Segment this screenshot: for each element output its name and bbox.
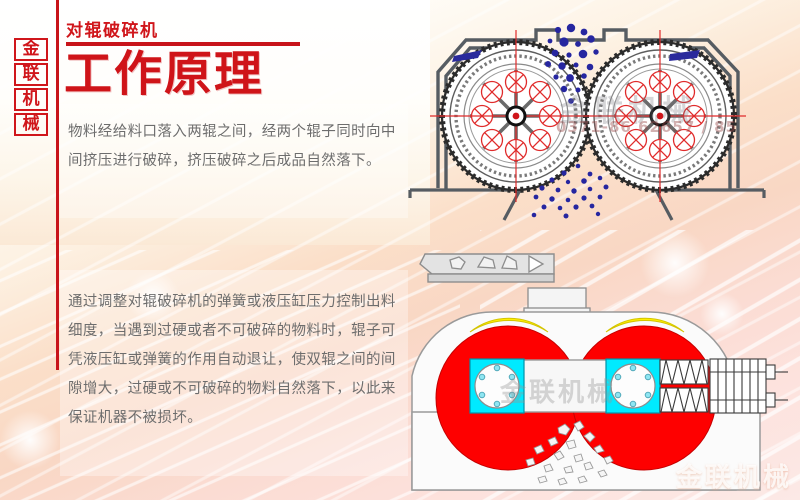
bearing-left bbox=[470, 359, 524, 413]
paragraph-1: 物料经给料口落入两辊之间，经两个辊子同时向中间挤压进行破碎，挤压破碎之后成品自然… bbox=[68, 118, 398, 176]
figure-crusher-cross-section bbox=[408, 8, 796, 234]
vertical-red-divider bbox=[56, 0, 59, 370]
poster-canvas: 金 联 机 械 对辊破碎机 工作原理 物料经给料口落入两辊之间，经两个辊子同时向… bbox=[0, 0, 800, 500]
figure-crusher-schematic bbox=[398, 240, 800, 500]
paragraph-2: 通过调整对辊破碎机的弹簧或液压缸压力控制出料细度，当遇到过硬或者不可破碎的物料时… bbox=[68, 288, 398, 433]
brand-char-3: 机 bbox=[14, 88, 48, 111]
bearing-right bbox=[606, 359, 660, 413]
page-subtitle: 对辊破碎机 bbox=[66, 16, 159, 41]
brand-char-2: 联 bbox=[14, 63, 48, 86]
feeder-chute bbox=[420, 254, 554, 282]
adjustment-bolts bbox=[766, 365, 788, 407]
inlet-box bbox=[524, 288, 590, 314]
background-glow-4 bbox=[0, 410, 60, 470]
page-title: 工作原理 bbox=[64, 46, 264, 102]
brand-char-4: 械 bbox=[14, 113, 48, 136]
brand-char-1: 金 bbox=[14, 38, 48, 61]
brand-logo: 金 联 机 械 bbox=[14, 38, 50, 138]
machine-base bbox=[410, 190, 764, 220]
adjustment-frame bbox=[710, 359, 766, 413]
